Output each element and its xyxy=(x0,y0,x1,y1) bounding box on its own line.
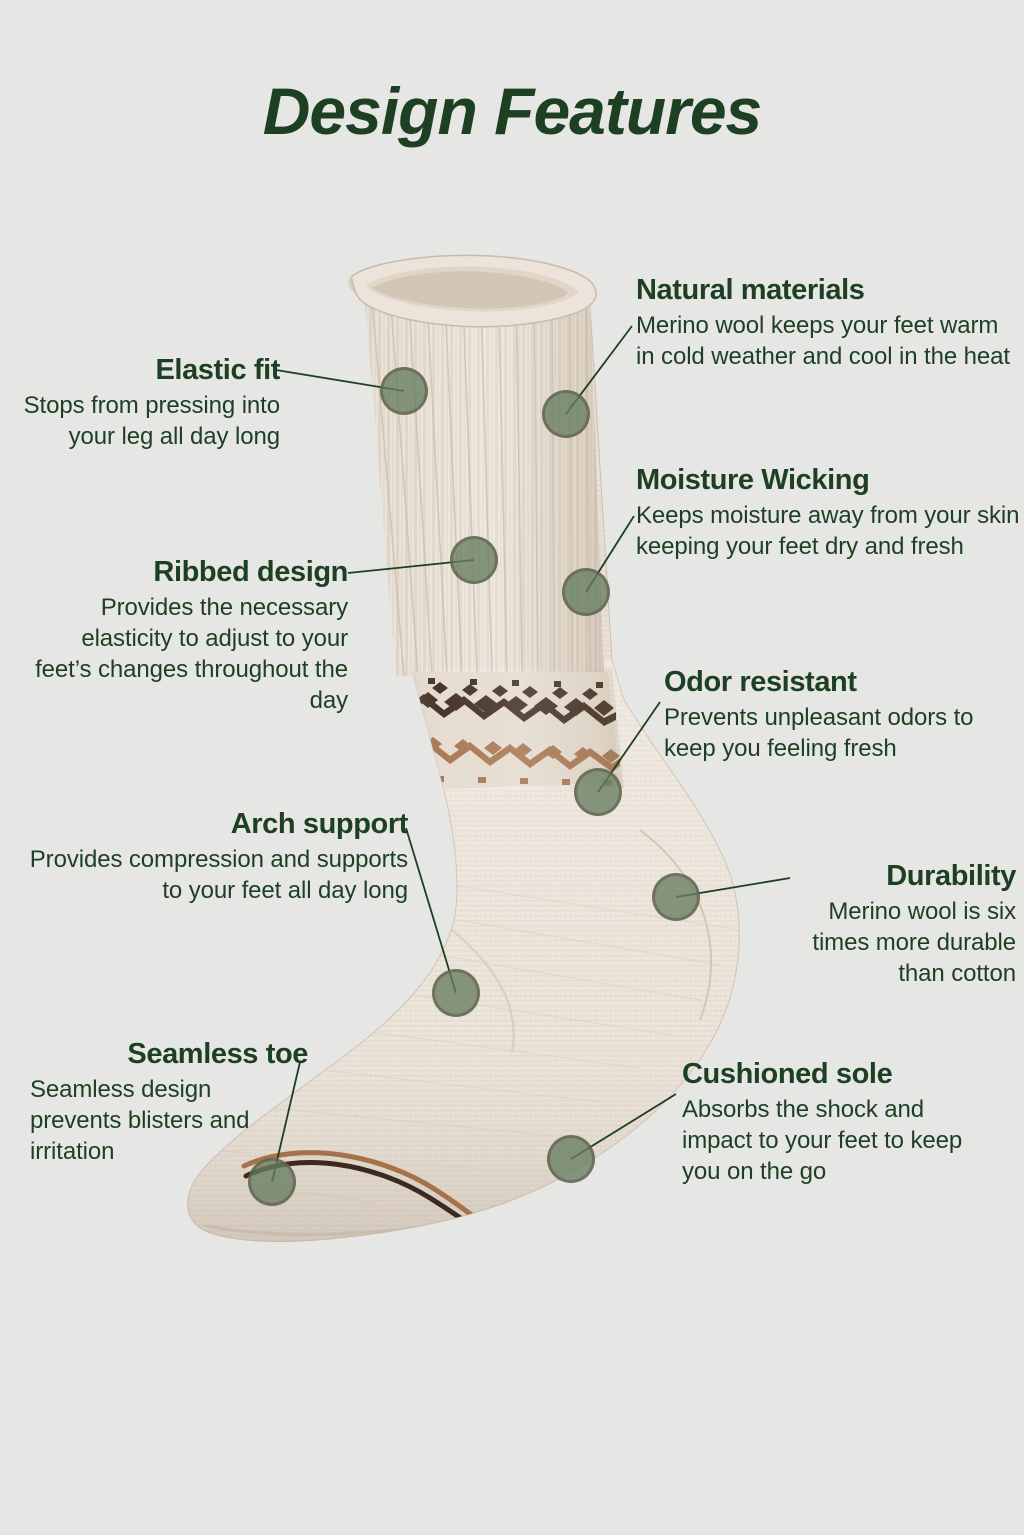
feature-body: Merino wool keeps your feet warm in cold… xyxy=(636,310,1018,372)
feature-odor-resistant: Odor resistant Prevents unpleasant odors… xyxy=(664,664,1020,764)
feature-natural-materials: Natural materials Merino wool keeps your… xyxy=(636,272,1018,372)
feature-title: Moisture Wicking xyxy=(636,462,1022,498)
marker-ribbed-design[interactable] xyxy=(450,536,498,584)
feature-title: Odor resistant xyxy=(664,664,1020,700)
feature-cushioned-sole: Cushioned sole Absorbs the shock and imp… xyxy=(682,1056,1000,1187)
marker-elastic-fit[interactable] xyxy=(380,367,428,415)
feature-title: Seamless toe xyxy=(30,1036,308,1072)
feature-title: Durability xyxy=(766,858,1016,894)
marker-natural-materials[interactable] xyxy=(542,390,590,438)
marker-cushioned-sole[interactable] xyxy=(547,1135,595,1183)
feature-body: Absorbs the shock and impact to your fee… xyxy=(682,1094,1000,1187)
feature-body: Keeps moisture away from your skin keepi… xyxy=(636,500,1022,562)
feature-moisture-wicking: Moisture Wicking Keeps moisture away fro… xyxy=(636,462,1022,562)
feature-seamless-toe: Seamless toe Seamless design prevents bl… xyxy=(30,1036,308,1167)
feature-title: Ribbed design xyxy=(24,554,348,590)
feature-body: Provides the necessary elasticity to adj… xyxy=(24,592,348,716)
feature-body: Seamless design prevents blisters and ir… xyxy=(30,1074,308,1167)
feature-elastic-fit: Elastic fit Stops from pressing into you… xyxy=(4,352,280,452)
feature-title: Cushioned sole xyxy=(682,1056,1000,1092)
marker-durability[interactable] xyxy=(652,873,700,921)
feature-title: Arch support xyxy=(28,806,408,842)
feature-arch-support: Arch support Provides compression and su… xyxy=(28,806,408,906)
feature-body: Merino wool is six times more durable th… xyxy=(766,896,1016,989)
feature-body: Prevents unpleasant odors to keep you fe… xyxy=(664,702,1020,764)
sock-illustration xyxy=(0,0,1024,1535)
marker-odor-resistant[interactable] xyxy=(574,768,622,816)
feature-body: Provides compression and supports to you… xyxy=(28,844,408,906)
marker-moisture-wicking[interactable] xyxy=(562,568,610,616)
feature-body: Stops from pressing into your leg all da… xyxy=(4,390,280,452)
infographic-canvas: Design Features xyxy=(0,0,1024,1535)
marker-arch-support[interactable] xyxy=(432,969,480,1017)
feature-title: Elastic fit xyxy=(4,352,280,388)
feature-ribbed-design: Ribbed design Provides the necessary ela… xyxy=(24,554,348,716)
feature-durability: Durability Merino wool is six times more… xyxy=(766,858,1016,989)
feature-title: Natural materials xyxy=(636,272,1018,308)
